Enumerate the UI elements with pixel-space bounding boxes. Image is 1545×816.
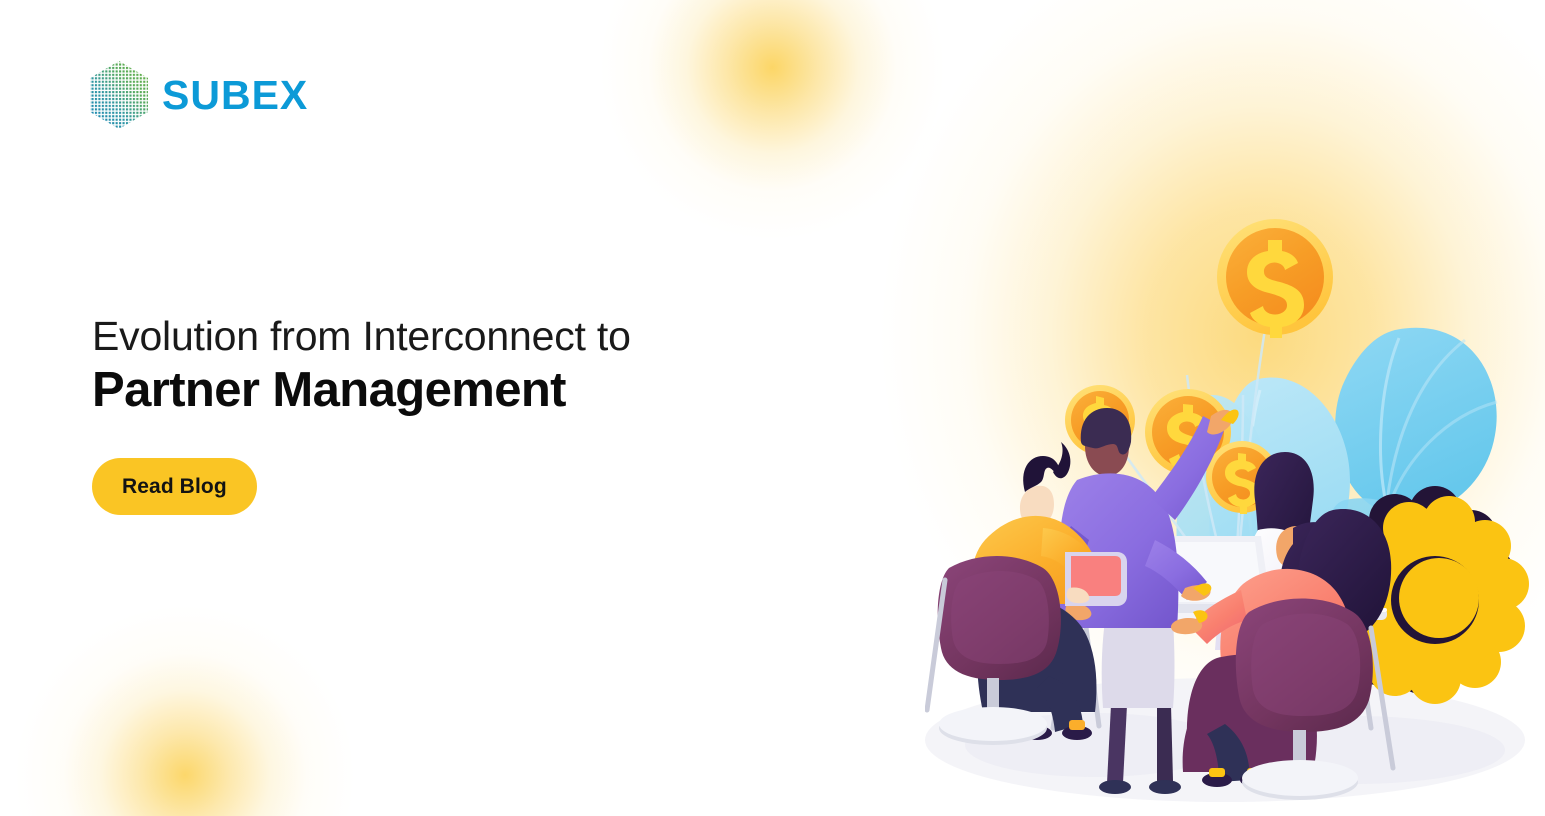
bottom-glow-icon (15, 605, 355, 816)
page-title: Evolution from Interconnect to Partner M… (92, 312, 631, 420)
subex-wordmark: SUBEX (162, 75, 308, 116)
read-blog-button[interactable]: Read Blog (92, 458, 257, 515)
coin-large (1217, 219, 1333, 338)
subex-hexagon-dot-logo-icon (88, 60, 150, 130)
promo-banner: SUBEX Evolution from Interconnect to Par… (0, 0, 1545, 816)
business-team-illustration-icon (925, 180, 1545, 816)
business-team-illustration (925, 180, 1545, 816)
top-glow-icon (600, 0, 945, 240)
headline-line-2: Partner Management (92, 362, 631, 420)
chair-left (927, 556, 1061, 745)
headline-line-1: Evolution from Interconnect to (92, 312, 631, 360)
subex-logo[interactable]: SUBEX (88, 60, 308, 130)
